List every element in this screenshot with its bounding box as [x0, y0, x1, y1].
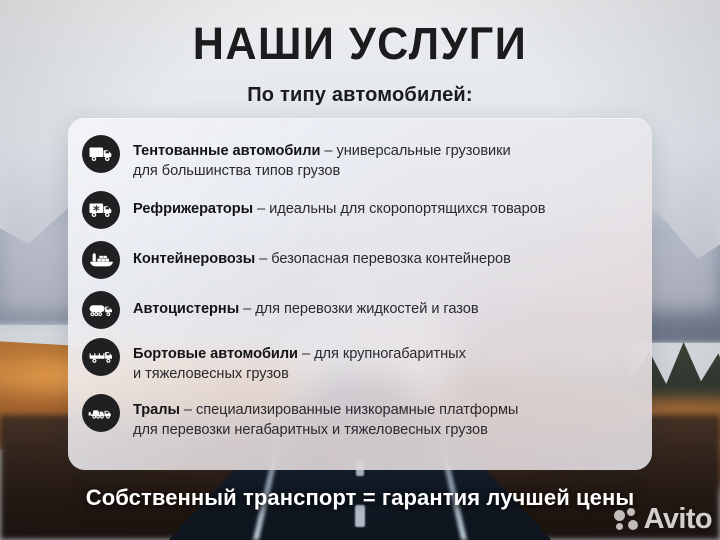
list-item-desc2: и тяжеловесных грузов	[133, 366, 289, 382]
box-truck-icon	[82, 135, 120, 173]
list-item-text: Тентованные автомобили – универсальные г…	[133, 134, 511, 181]
container-ship-icon	[82, 241, 120, 279]
services-list: Тентованные автомобили – универсальные г…	[68, 118, 652, 470]
list-item: Тентованные автомобили – универсальные г…	[82, 134, 632, 181]
list-item-title: Контейнеровозы	[133, 251, 255, 267]
list-item-desc2: для большинства типов грузов	[133, 163, 340, 179]
dash: –	[302, 346, 310, 362]
dash: –	[243, 301, 251, 317]
list-item-title: Автоцистерны	[133, 301, 239, 317]
list-item: Автоцистерны – для перевозки жидкостей и…	[82, 290, 632, 329]
list-item: Тралы – специализированные низкорамные п…	[82, 393, 632, 440]
page-subtitle: По типу автомобилей:	[0, 84, 720, 107]
list-item-text: Бортовые автомобили – для крупногабаритн…	[133, 337, 466, 384]
list-item-desc2: для перевозки негабаритных и тяжеловесны…	[133, 422, 488, 438]
list-item-desc: для перевозки жидкостей и газов	[255, 301, 478, 317]
refrigerator-truck-icon	[82, 191, 120, 229]
avito-watermark: Avito	[614, 505, 712, 534]
list-item-text: Контейнеровозы – безопасная перевозка ко…	[133, 240, 511, 269]
list-item: Бортовые автомобили – для крупногабаритн…	[82, 337, 632, 384]
list-item-desc: для крупногабаритных	[314, 346, 466, 362]
list-item-title: Бортовые автомобили	[133, 346, 298, 362]
list-item-text: Автоцистерны – для перевозки жидкостей и…	[133, 290, 479, 319]
list-item: Контейнеровозы – безопасная перевозка ко…	[82, 240, 632, 279]
list-item-desc: идеальны для скоропортящихся товаров	[269, 201, 545, 217]
list-item-desc: безопасная перевозка контейнеров	[271, 251, 511, 267]
dash: –	[259, 251, 267, 267]
flatbed-truck-icon	[82, 338, 120, 376]
footer-slogan: Собственный транспорт = гарантия лучшей …	[0, 485, 720, 511]
avito-dots-icon	[614, 508, 642, 532]
list-item-text: Тралы – специализированные низкорамные п…	[133, 393, 518, 440]
list-item-title: Тентованные автомобили	[133, 143, 320, 159]
list-item-desc: универсальные грузовики	[336, 143, 510, 159]
dash: –	[324, 143, 332, 159]
avito-wordmark: Avito	[644, 505, 712, 534]
list-item-desc: специализированные низкорамные платформы	[196, 402, 518, 418]
lowboy-trailer-icon	[82, 394, 120, 432]
dash: –	[257, 201, 265, 217]
dash: –	[184, 402, 192, 418]
page-title: НАШИ УСЛУГИ	[14, 18, 705, 70]
poster-stage: НАШИ УСЛУГИ По типу автомобилей: Тентова…	[0, 0, 720, 540]
list-item-text: Рефрижераторы – идеальны для скоропортящ…	[133, 190, 545, 219]
services-card: Тентованные автомобили – универсальные г…	[68, 118, 652, 470]
list-item: Рефрижераторы – идеальны для скоропортящ…	[82, 190, 632, 229]
tanker-truck-icon	[82, 291, 120, 329]
list-item-title: Рефрижераторы	[133, 201, 253, 217]
list-item-title: Тралы	[133, 402, 180, 418]
